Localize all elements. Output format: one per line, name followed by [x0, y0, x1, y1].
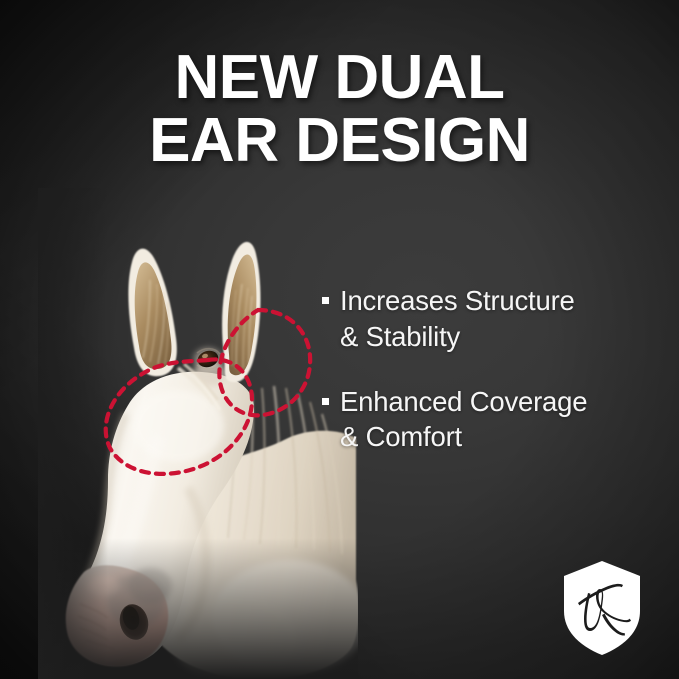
- promo-image-canvas: NEW DUAL EAR DESIGN: [0, 0, 679, 679]
- bullet-line-2: & Comfort: [340, 421, 462, 452]
- headline-line-2: EAR DESIGN: [0, 111, 679, 171]
- feature-bullet-list: Increases Structure & Stability Enhanced…: [322, 283, 652, 484]
- bullet-text: Increases Structure & Stability: [340, 283, 575, 355]
- shield-badge-k-icon: [556, 559, 648, 657]
- left-fade: [38, 188, 108, 679]
- bullet-text: Enhanced Coverage & Comfort: [340, 384, 587, 456]
- list-item: Increases Structure & Stability: [322, 283, 652, 355]
- list-item: Enhanced Coverage & Comfort: [322, 384, 652, 456]
- bullet-line-1: Increases Structure: [340, 285, 575, 316]
- horse-product-photo: [38, 188, 358, 679]
- brand-logo: [556, 559, 648, 657]
- headline-line-1: NEW DUAL: [0, 48, 679, 108]
- headline: NEW DUAL EAR DESIGN: [0, 48, 679, 171]
- horse-ear-left: [128, 249, 176, 377]
- bullet-line-2: & Stability: [340, 321, 460, 352]
- square-bullet-icon: [322, 398, 329, 405]
- bullet-line-1: Enhanced Coverage: [340, 386, 587, 417]
- square-bullet-icon: [322, 297, 329, 304]
- horse-illustration: [38, 188, 358, 679]
